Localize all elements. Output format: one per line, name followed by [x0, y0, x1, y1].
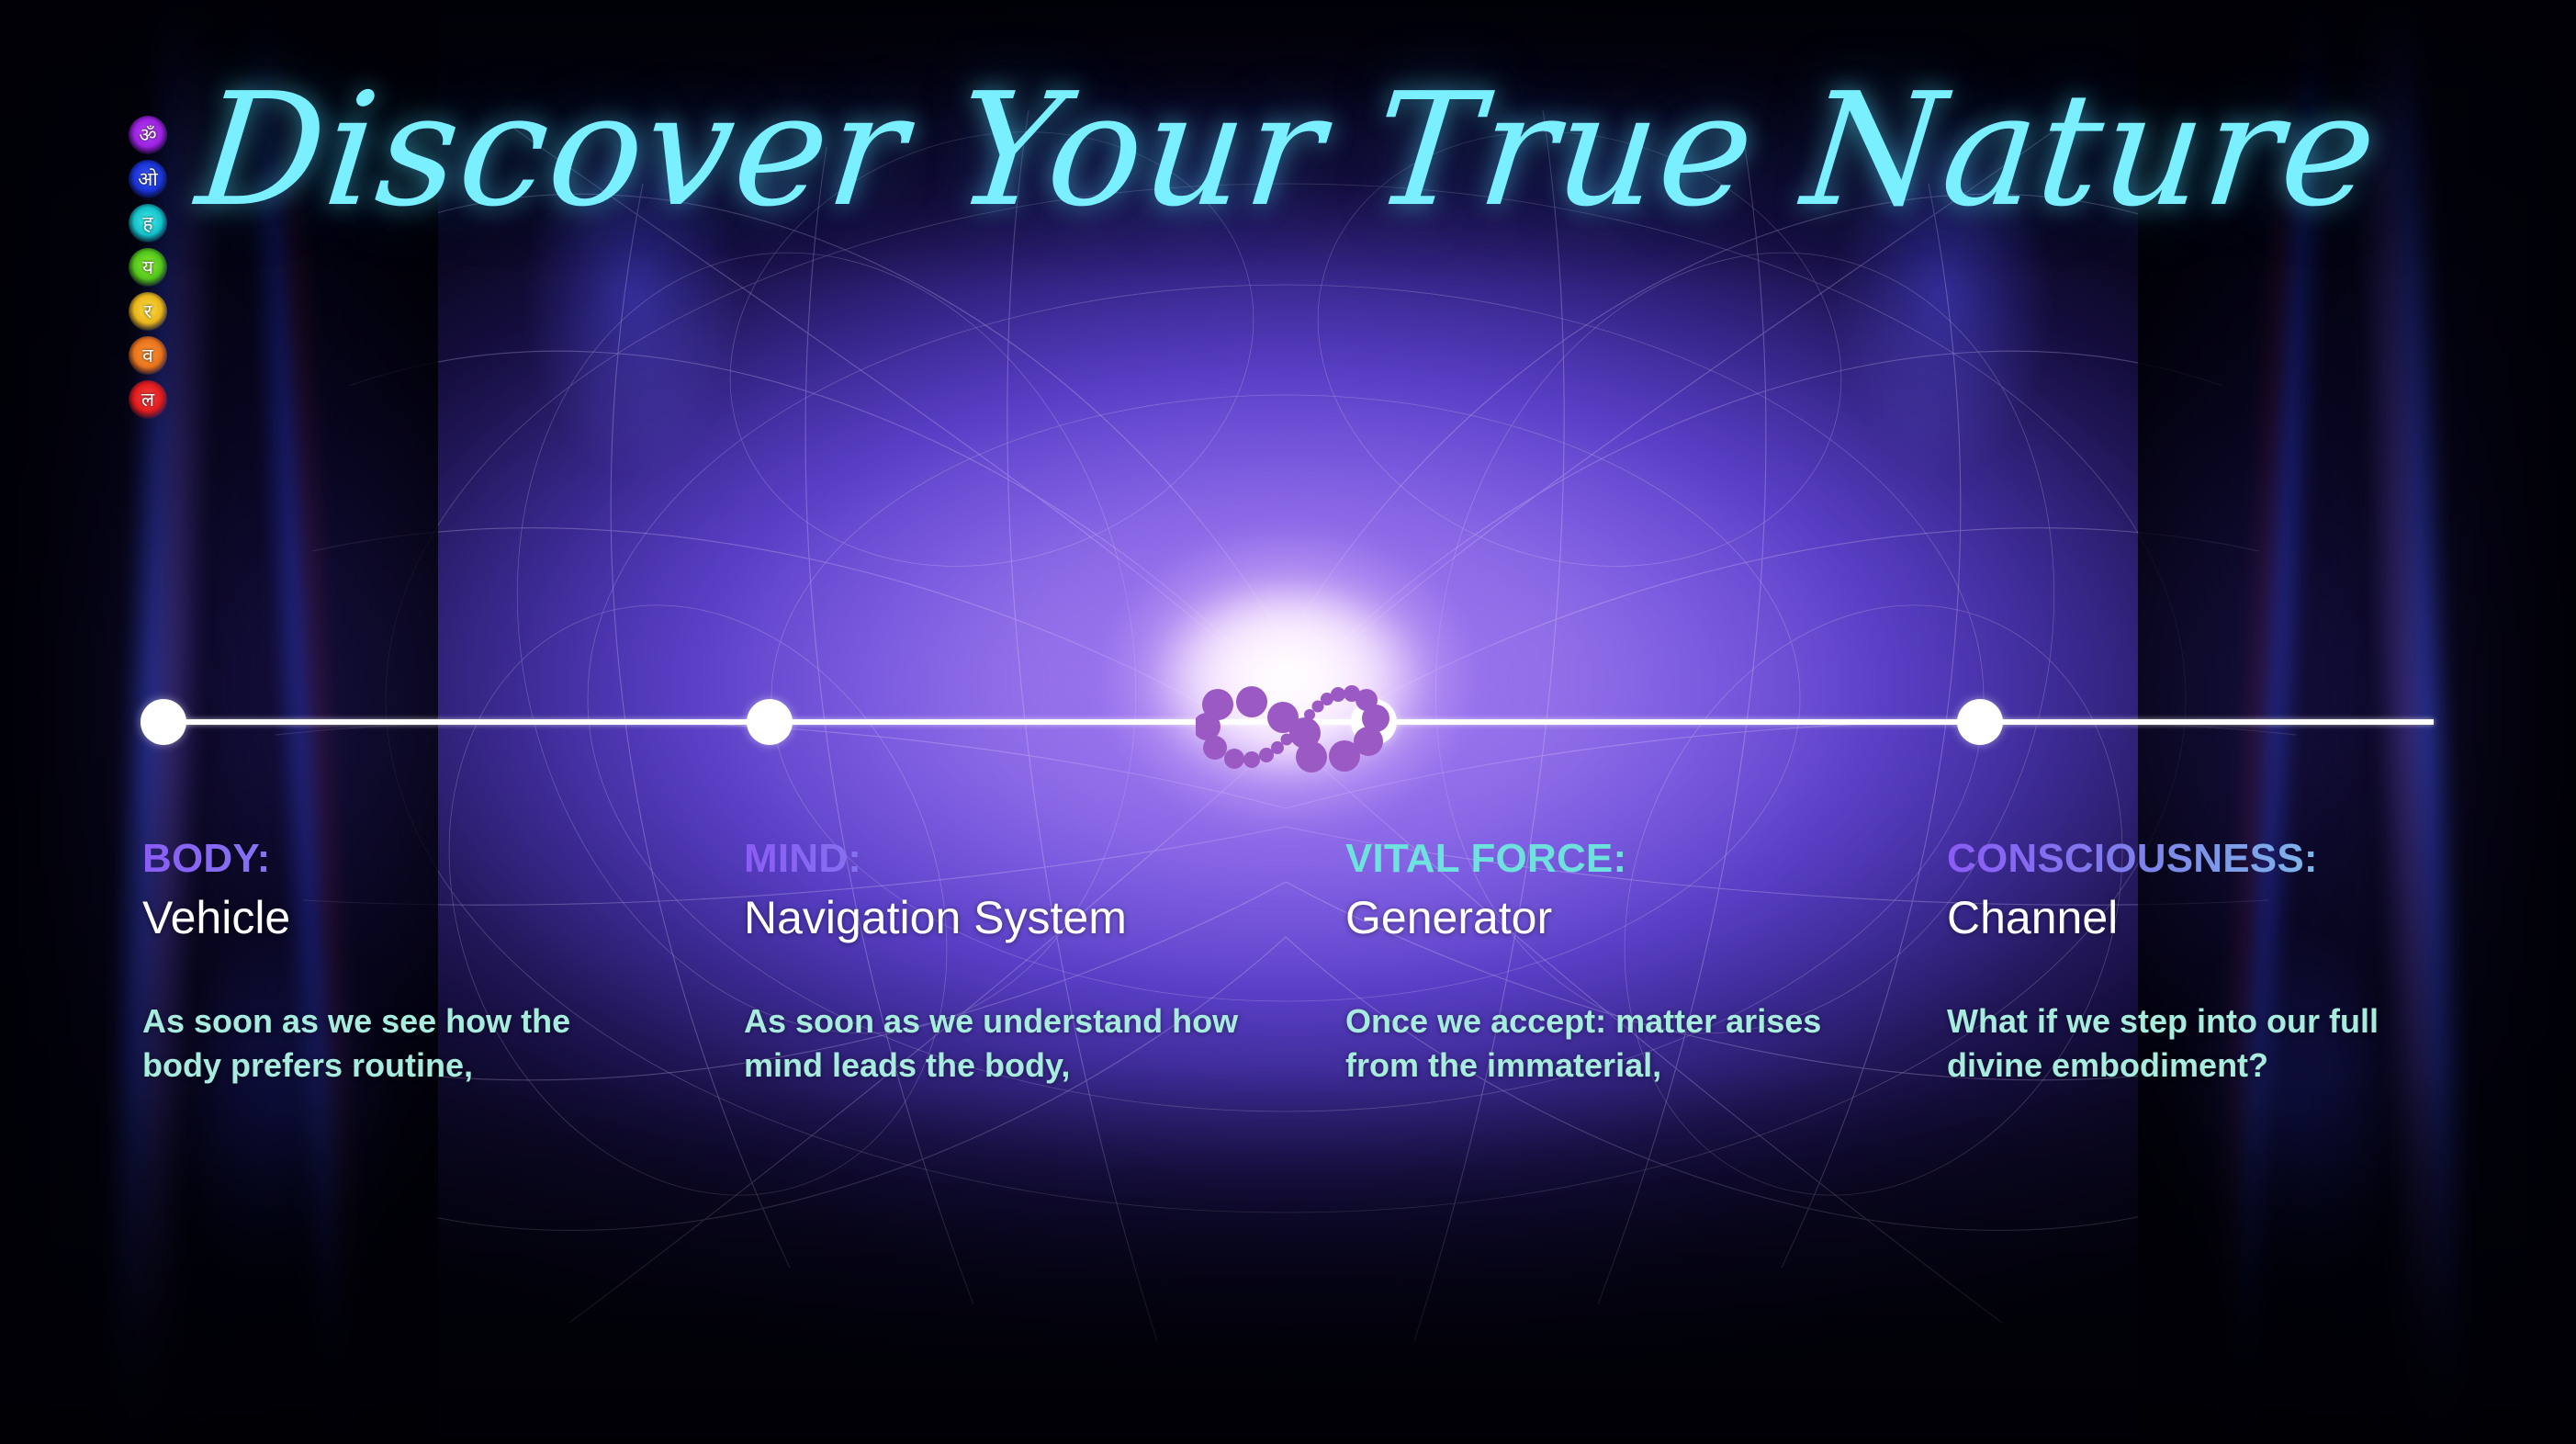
column-consciousness: CONSCIOUSNESS: Channel What if we step i…: [1947, 836, 2548, 1087]
column-mind-text: As soon as we understand how mind leads …: [744, 999, 1258, 1087]
column-mind-kicker: MIND:: [744, 836, 1345, 882]
sacral-chakra-icon: व: [129, 336, 167, 375]
timeline-node-mind[interactable]: [747, 699, 793, 745]
column-vital-force: VITAL FORCE: Generator Once we accept: m…: [1345, 836, 1947, 1087]
column-consciousness-text: What if we step into our full divine emb…: [1947, 999, 2461, 1087]
column-mind: MIND: Navigation System As soon as we un…: [744, 836, 1345, 1087]
timeline-node-body[interactable]: [141, 699, 186, 745]
root-chakra-glyph: ल: [141, 390, 154, 410]
page-title: Discover Your True Nature: [0, 72, 2576, 231]
heart-chakra-glyph: य: [142, 258, 153, 277]
solar-plexus-chakra-icon: र: [129, 292, 167, 331]
column-mind-subtitle: Navigation System: [744, 891, 1345, 944]
timeline-node-consciousness[interactable]: [1957, 699, 2003, 745]
column-consciousness-subtitle: Channel: [1947, 891, 2548, 944]
heart-chakra-icon: य: [129, 248, 167, 287]
column-vital-force-text: Once we accept: matter arises from the i…: [1345, 999, 1860, 1087]
root-chakra-icon: ल: [129, 380, 167, 419]
column-body: BODY: Vehicle As soon as we see how the …: [142, 836, 744, 1087]
column-body-kicker: BODY:: [142, 836, 744, 882]
column-vital-force-kicker: VITAL FORCE:: [1345, 836, 1947, 882]
concept-columns: BODY: Vehicle As soon as we see how the …: [0, 836, 2576, 1087]
infinity-icon: [1196, 671, 1393, 773]
column-body-subtitle: Vehicle: [142, 891, 744, 944]
column-consciousness-kicker: CONSCIOUSNESS:: [1947, 836, 2548, 882]
column-body-text: As soon as we see how the body prefers r…: [142, 999, 657, 1087]
slide-canvas: ॐ ओ ह य र व ल Discover Your True Nature: [0, 0, 2576, 1444]
sacral-chakra-glyph: व: [142, 346, 153, 366]
solar-plexus-chakra-glyph: र: [144, 302, 152, 322]
column-vital-force-subtitle: Generator: [1345, 891, 1947, 944]
